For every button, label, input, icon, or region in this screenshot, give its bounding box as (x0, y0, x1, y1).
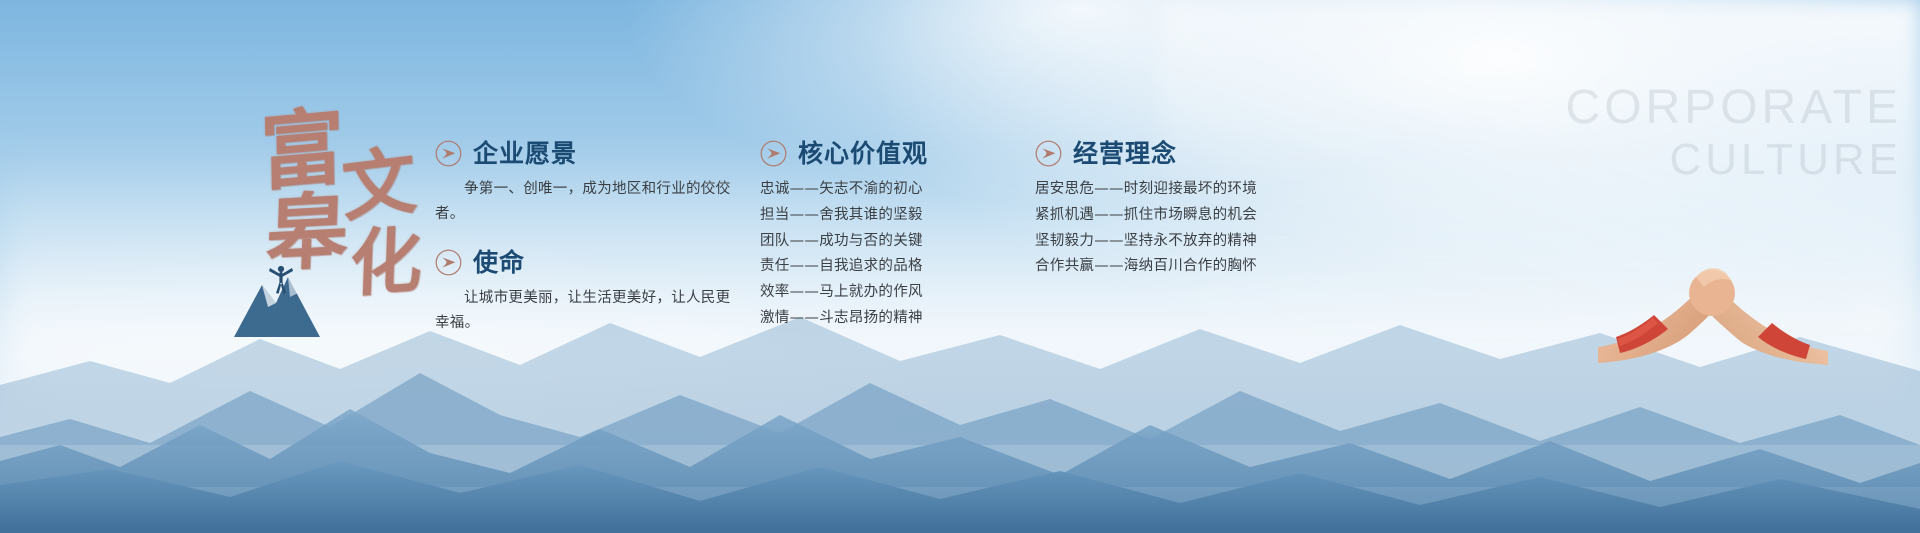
paragraph-mission: 让城市更美丽，让生活更美好，让人民更幸福。 (435, 286, 735, 336)
circle-arrow-icon (435, 249, 462, 276)
list-item: 效率——马上就办的作风 (760, 280, 1030, 306)
heading-text-vision: 企业愿景 (473, 141, 577, 166)
column-core-values: 核心价值观 忠诚——矢志不渝的初心 担当——舍我其谁的坚毅 团队——成功与否的关… (760, 140, 1030, 336)
heading-text-business-philosophy: 经营理念 (1073, 141, 1177, 166)
heading-text-core-values: 核心价值观 (798, 141, 928, 166)
list-item: 忠诚——矢志不渝的初心 (760, 177, 1030, 203)
corporate-culture-banner: 富 皋 文 化 (0, 0, 1920, 533)
circle-arrow-icon (1035, 140, 1062, 167)
heading-core-values: 核心价值观 (760, 140, 1030, 167)
block-mission: 使命 让城市更美丽，让生活更美好，让人民更幸福。 (435, 249, 735, 336)
content-columns: 企业愿景 争第一、创唯一，成为地区和行业的佼佼者。 使命 让城市更美丽，让生活更… (0, 0, 1920, 533)
list-item: 居安思危——时刻迎接最坏的环境 (1035, 177, 1335, 203)
list-item: 坚韧毅力——坚持永不放弃的精神 (1035, 229, 1335, 255)
paragraph-vision: 争第一、创唯一，成为地区和行业的佼佼者。 (435, 177, 735, 227)
heading-text-mission: 使命 (473, 250, 525, 275)
heading-business-philosophy: 经营理念 (1035, 140, 1335, 167)
column-vision-mission: 企业愿景 争第一、创唯一，成为地区和行业的佼佼者。 使命 让城市更美丽，让生活更… (435, 140, 735, 340)
heading-mission: 使命 (435, 249, 735, 276)
circle-arrow-icon (435, 140, 462, 167)
list-item: 责任——自我追求的品格 (760, 254, 1030, 280)
column-business-philosophy: 经营理念 居安思危——时刻迎接最坏的环境 紧抓机遇——抓住市场瞬息的机会 坚韧毅… (1035, 140, 1335, 284)
list-item: 激情——斗志昂扬的精神 (760, 306, 1030, 332)
list-item: 担当——舍我其谁的坚毅 (760, 203, 1030, 229)
block-vision: 企业愿景 争第一、创唯一，成为地区和行业的佼佼者。 (435, 140, 735, 227)
business-philosophy-list: 居安思危——时刻迎接最坏的环境 紧抓机遇——抓住市场瞬息的机会 坚韧毅力——坚持… (1035, 177, 1335, 280)
block-business-philosophy: 经营理念 居安思危——时刻迎接最坏的环境 紧抓机遇——抓住市场瞬息的机会 坚韧毅… (1035, 140, 1335, 280)
block-core-values: 核心价值观 忠诚——矢志不渝的初心 担当——舍我其谁的坚毅 团队——成功与否的关… (760, 140, 1030, 332)
heading-vision: 企业愿景 (435, 140, 735, 167)
list-item: 合作共赢——海纳百川合作的胸怀 (1035, 254, 1335, 280)
core-values-list: 忠诚——矢志不渝的初心 担当——舍我其谁的坚毅 团队——成功与否的关键 责任——… (760, 177, 1030, 332)
list-item: 团队——成功与否的关键 (760, 229, 1030, 255)
list-item: 紧抓机遇——抓住市场瞬息的机会 (1035, 203, 1335, 229)
circle-arrow-icon (760, 140, 787, 167)
